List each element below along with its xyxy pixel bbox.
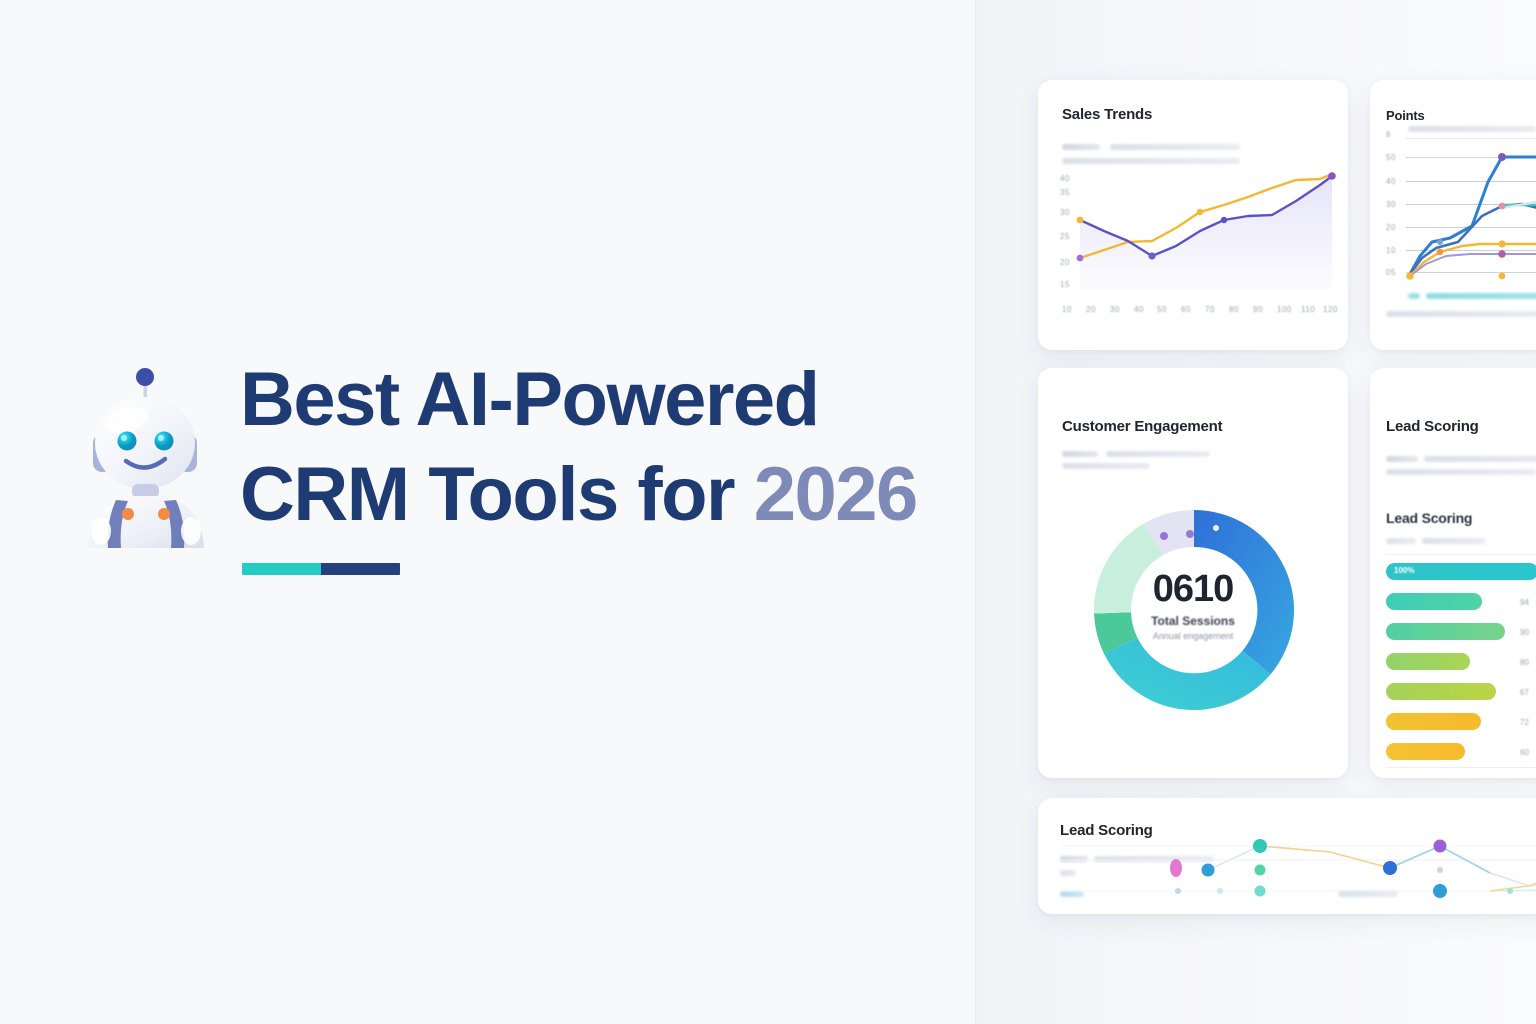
points-chart [1406, 130, 1536, 280]
leadbars-bottom-rule [1386, 767, 1536, 768]
points-y-tick-5: 05 [1386, 268, 1396, 277]
points-y-tick-2: 30 [1386, 200, 1396, 209]
lead-bar-1-label: 100% [1394, 566, 1414, 575]
sales-x-tick-8: 90 [1253, 305, 1263, 314]
sales-subtitle-line-2 [1062, 158, 1240, 164]
engagement-center-caption: Total Sessions [1038, 614, 1348, 628]
points-y-tick-top: 6 [1386, 130, 1391, 139]
lead-bar-1[interactable]: 100% [1386, 563, 1536, 580]
accent-segment-teal [242, 563, 321, 575]
sales-y-tick-2: 30 [1060, 208, 1070, 217]
points-y-tick-4: 10 [1386, 246, 1396, 255]
engagement-subtitle-line-1 [1106, 451, 1210, 457]
lead-scoring-scatter-chart [1060, 828, 1536, 904]
card-sales-trends[interactable]: Sales Trends 40 35 30 25 20 15 [1038, 80, 1348, 350]
accent-underline [242, 563, 400, 575]
sales-y-tick-1: 35 [1060, 188, 1070, 197]
points-y-tick-1: 40 [1386, 177, 1396, 186]
lead-scoring-sub-heading: Lead Scoring [1386, 510, 1472, 526]
headline-line-2: CRM Tools for 2026 [240, 447, 970, 542]
card-lead-scoring-bars[interactable]: Lead Scoring Lead Scoring 100% 94 90 80 … [1370, 368, 1536, 778]
sales-x-tick-11: 120 [1323, 305, 1338, 314]
headline-year: 2026 [754, 452, 917, 537]
panel-divider [975, 0, 977, 1024]
engagement-subtitle-line-2 [1062, 463, 1150, 469]
points-footer-line-1 [1426, 293, 1536, 299]
engagement-center-subcaption: Annual engagement [1038, 631, 1348, 641]
lead-bar-6[interactable] [1386, 713, 1481, 730]
hero-banner: Best AI-Powered CRM Tools for 2026 Sales… [0, 0, 1536, 1024]
sales-x-tick-0: 10 [1062, 305, 1072, 314]
sales-x-tick-5: 60 [1181, 305, 1191, 314]
engagement-subtitle-chip [1062, 451, 1098, 457]
lead-scoring-bars-title: Lead Scoring [1386, 418, 1479, 435]
lead-bar-2[interactable] [1386, 593, 1482, 610]
headline-line-1: Best AI-Powered [240, 352, 970, 447]
lead-bar-5-value: 67 [1520, 688, 1529, 697]
lead-bar-3[interactable] [1386, 623, 1505, 640]
sales-trends-title: Sales Trends [1062, 106, 1152, 123]
headline-line-2-main: CRM Tools for [240, 452, 754, 537]
lead-bar-4[interactable] [1386, 653, 1470, 670]
page-title: Best AI-Powered CRM Tools for 2026 [240, 352, 970, 542]
leadbars-subtitle-chip [1386, 456, 1418, 462]
sales-trends-chart [1074, 168, 1340, 298]
card-customer-engagement[interactable]: Customer Engagement [1038, 368, 1348, 778]
lead-bar-6-value: 72 [1520, 718, 1529, 727]
robot-mascot-icon [72, 358, 222, 548]
points-y-tick-3: 20 [1386, 223, 1396, 232]
lead-bar-7-value: 60 [1520, 748, 1529, 757]
accent-segment-navy [321, 563, 400, 575]
sales-y-tick-4: 20 [1060, 258, 1070, 267]
leadbars-subtitle-line-1 [1424, 456, 1536, 462]
sales-x-tick-3: 40 [1134, 305, 1144, 314]
lead-bar-2-value: 94 [1520, 598, 1529, 607]
points-footer-line-2 [1386, 311, 1536, 317]
sales-y-tick-3: 25 [1060, 232, 1070, 241]
sales-subtitle-chip [1062, 144, 1100, 150]
sales-x-tick-1: 20 [1086, 305, 1096, 314]
card-points[interactable]: Points 6 50 40 30 20 10 05 [1370, 80, 1536, 350]
scatter-footer-line [1338, 891, 1398, 897]
lead-bar-4-value: 80 [1520, 658, 1529, 667]
leadbars-sub-caption-chip [1386, 538, 1416, 544]
lead-bar-3-value: 90 [1520, 628, 1529, 637]
points-footer-chip [1408, 293, 1420, 299]
lead-bar-7[interactable] [1386, 743, 1465, 760]
points-title: Points [1386, 108, 1425, 123]
sales-y-tick-5: 15 [1060, 280, 1070, 289]
sales-subtitle-line-1 [1110, 144, 1240, 150]
points-y-tick-0: 50 [1386, 153, 1396, 162]
sales-x-tick-7: 80 [1229, 305, 1239, 314]
leadbars-top-rule [1386, 554, 1536, 555]
sales-y-tick-0: 40 [1060, 174, 1070, 183]
sales-x-tick-4: 50 [1157, 305, 1167, 314]
customer-engagement-title: Customer Engagement [1062, 418, 1222, 435]
leadbars-sub-caption [1422, 538, 1486, 544]
hero-left-column: Best AI-Powered CRM Tools for 2026 [0, 0, 975, 1024]
card-lead-scoring-scatter[interactable]: Lead Scoring [1038, 798, 1536, 914]
sales-x-tick-10: 110 [1301, 305, 1315, 314]
leadbars-subtitle-line-2 [1386, 469, 1536, 475]
sales-x-tick-2: 30 [1110, 305, 1120, 314]
lead-bar-5[interactable] [1386, 683, 1496, 700]
engagement-center-value: 0610 [1038, 568, 1348, 611]
sales-x-tick-6: 70 [1205, 305, 1215, 314]
sales-x-tick-9: 100 [1277, 305, 1292, 314]
